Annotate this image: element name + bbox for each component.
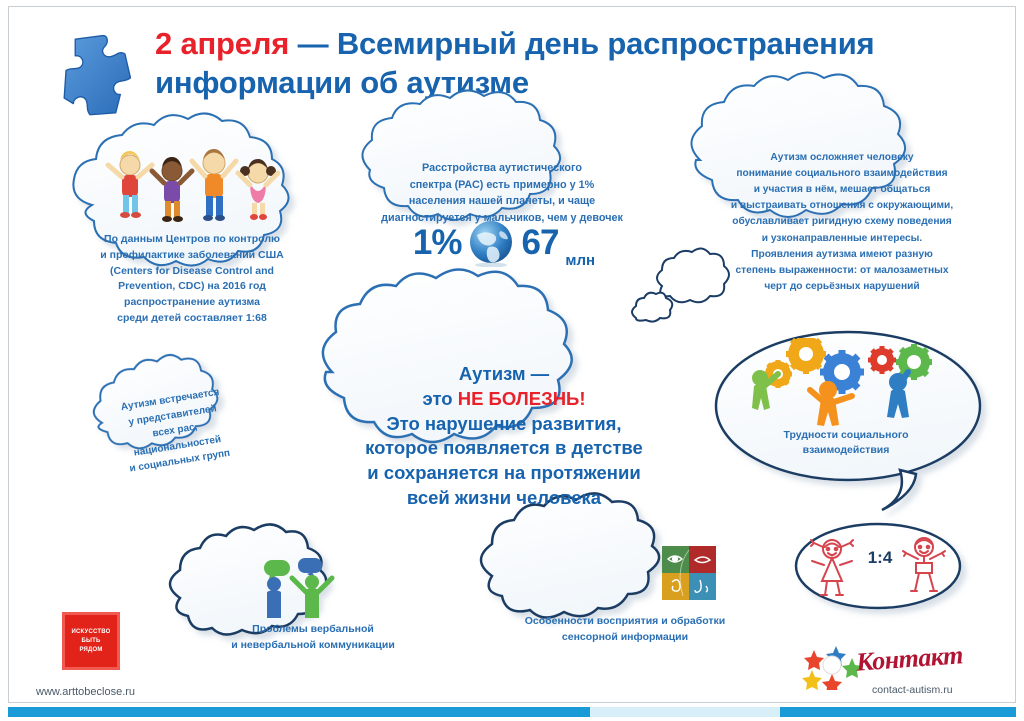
senses-icon: [662, 546, 716, 600]
thought-puff-small: [632, 293, 672, 322]
social-interaction-text: Трудности социального взаимодействия: [738, 428, 954, 458]
bottom-accent-bar: [8, 707, 1016, 717]
desc-line-5: обуславливает ригидную схему поведения: [700, 214, 984, 230]
art-logo-line-3: РЯДОМ: [71, 646, 110, 655]
desc-line-8: степень выраженности: от малозаметных: [700, 263, 984, 279]
prevalence-count-unit: млн: [565, 252, 595, 274]
cdc-line-1: По данным Центров по контролю: [70, 232, 314, 248]
gears-line-1: Трудности социального: [738, 428, 954, 443]
sensory-line-1: Особенности восприятия и обработки: [500, 614, 750, 630]
desc-line-7: Проявления аутизма имеют разную: [700, 247, 984, 263]
art-website-url[interactable]: www.arttobeclose.ru: [36, 686, 135, 698]
art-logo-text: ИСКУССТВО БЫТЬ РЯДОМ: [71, 628, 110, 655]
desc-line-6: и узконаправленные интересы.: [700, 231, 984, 247]
gears-line-2: взаимодействия: [738, 443, 954, 458]
art-logo-line-1: ИСКУССТВО: [71, 628, 110, 637]
bottom-accent-bar-gap: [590, 707, 780, 717]
prevalence-line-3: населения нашей планеты, и чаще: [372, 193, 632, 210]
cdc-line-5: распространение аутизма: [70, 295, 314, 311]
sensory-text: Особенности восприятия и обработки сенсо…: [500, 614, 750, 646]
prevalence-figures: 1% 67 млн: [384, 212, 624, 274]
gears-teamwork-illustration: [742, 338, 954, 430]
comm-line-2: и невербальной коммуникации: [196, 638, 430, 654]
cdc-line-6: среди детей составляет 1:68: [70, 311, 314, 327]
cdc-line-3: (Centers for Disease Control and: [70, 264, 314, 280]
globe-icon: [467, 219, 515, 267]
main-line-1: Аутизм —: [332, 362, 676, 387]
prevalence-count: 67: [521, 223, 558, 263]
prevalence-line-1: Расстройства аутистического: [372, 160, 632, 177]
main-message-text: Аутизм — это НЕ БОЛЕЗНЬ! Это нарушение р…: [332, 362, 676, 511]
main-line-3: Это нарушение развития,: [332, 412, 676, 437]
desc-line-1: Аутизм осложняет человеку: [700, 150, 984, 166]
desc-line-3: и участия в нём, мешает общаться: [700, 182, 984, 198]
communication-text: Проблемы вербальной и невербальной комму…: [196, 622, 430, 654]
main-line-2: это НЕ БОЛЕЗНЬ!: [332, 387, 676, 412]
art-to-be-close-logo[interactable]: ИСКУССТВО БЫТЬ РЯДОМ: [62, 612, 120, 670]
desc-line-2: понимание социального взаимодействия: [700, 166, 984, 182]
cdc-line-2: и профилактике заболеваний США: [70, 248, 314, 264]
autism-awareness-poster: 2 апреля — Всемирный день распространени…: [0, 0, 1024, 721]
cdc-statistics-text: По данным Центров по контролю и профилак…: [70, 232, 314, 327]
prevalence-percent: 1%: [413, 223, 462, 263]
girl-stick-figure: [808, 535, 856, 597]
jumping-children-illustration: [100, 145, 286, 233]
sensory-line-2: сенсорной информации: [500, 630, 750, 646]
sensory-cloud-shape: [481, 493, 659, 617]
cdc-line-4: Prevention, CDC) на 2016 год: [70, 279, 314, 295]
boy-stick-figure: [900, 533, 948, 595]
comm-line-1: Проблемы вербальной: [196, 622, 430, 638]
art-logo-line-2: БЫТЬ: [71, 637, 110, 646]
main-line-2-prefix: это: [422, 388, 457, 409]
figure-green: [292, 575, 332, 618]
desc-line-4: и выстраивать отношения с окружающими,: [700, 198, 984, 214]
gender-ratio-value: 1:4: [856, 548, 904, 568]
contact-website-url[interactable]: contact-autism.ru: [872, 684, 953, 696]
communication-figures-illustration: [236, 558, 356, 620]
figure-blue: [267, 577, 281, 618]
autism-description-text: Аутизм осложняет человеку понимание соци…: [700, 150, 984, 295]
main-line-2-accent: НЕ БОЛЕЗНЬ!: [458, 388, 586, 409]
main-line-6: всей жизни человека: [332, 486, 676, 511]
main-line-5: и сохраняется на протяжении: [332, 461, 676, 486]
main-line-4: которое появляется в детстве: [332, 436, 676, 461]
desc-line-9: черт до серьёзных нарушений: [700, 279, 984, 295]
prevalence-line-2: спектра (РАС) есть примерно у 1%: [372, 177, 632, 194]
